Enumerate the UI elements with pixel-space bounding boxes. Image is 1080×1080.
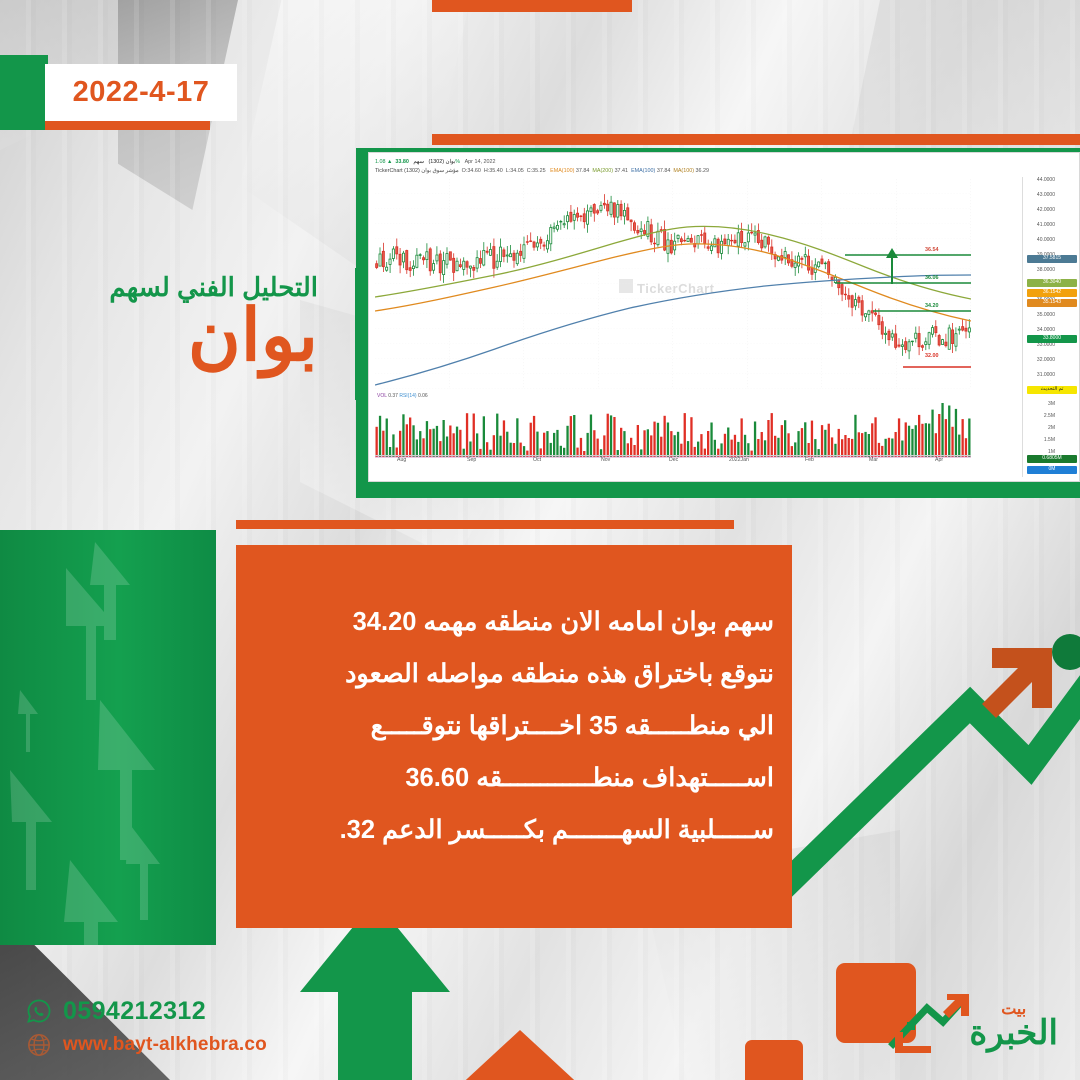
page-title: التحليل الفني لسهم بوان [0,272,340,375]
analysis-line: نتوقع باختراق هذه منطقه مواصله الصعود [236,659,792,689]
time-tick: Dec [669,457,678,463]
brand-logo[interactable]: بيت الخبرة [887,976,1062,1062]
logo-text: بيت الخبرة [969,1002,1058,1050]
analysis-text-panel: سهم بوان امامه الان منطقه مهمه 34.20 نتو… [236,545,792,928]
volume-tick: 3M [1048,401,1055,407]
volume-flag-zero: 0M [1027,466,1077,474]
chart-symbol: بوان (1302) [428,159,455,165]
chart-ind-2-value: 37.84 [657,168,671,174]
time-tick: Apr [935,457,943,463]
arrow-pattern [0,530,216,945]
time-axis: Aug Sep Oct Nov Dec 2022Jan Feb Mar Apr [375,457,971,467]
date-badge: 2022-4-17 [45,64,237,121]
chart-last-price: 33.80 [395,159,409,165]
price-tick: 34.0000 [1037,327,1055,333]
header-accent-bar [432,134,1080,145]
chart-ind-3-name: MA(100) [673,168,694,174]
volume-tick: 2M [1048,425,1055,431]
chart-ind-3-value: 36.29 [696,168,710,174]
orange-square-decoration-2 [745,1040,803,1080]
chart-header-quote-line: بوان (1302) سهم 33.80 ▲ 1.08% Apr 14, 20… [375,158,1075,167]
price-tick: 38.0000 [1037,267,1055,273]
price-tick: 32.0000 [1037,357,1055,363]
price-tick: 43.0000 [1037,192,1055,198]
house-growth-arrow-icon [887,988,973,1054]
price-flag-ema: 37.5815 [1027,255,1077,263]
chart-change-arrow: ▲ [387,159,392,165]
time-tick: Feb [805,457,814,463]
growth-zigzag-decoration [760,600,1080,960]
analysis-line: اســـــتهداف منطــــــــــــقه 36.60 [236,763,792,793]
footer-contact: 0594212312 www.bayt-alkhebra.co [26,994,356,1062]
date-green-block [0,55,48,130]
price-tick: 44.0000 [1037,177,1055,183]
whatsapp-icon [26,998,52,1024]
vol-label: VOL [377,393,387,399]
footer-phone-row[interactable]: 0594212312 [26,994,356,1028]
price-tick: 35.0000 [1037,312,1055,318]
sr-label-3654: 36.54 [925,247,939,253]
volume-tick: 1.5M [1044,437,1055,443]
time-tick: Sep [467,457,476,463]
date-underline [45,121,210,130]
globe-icon [26,1032,52,1058]
chart-ind-0-value: 37.84 [576,168,590,174]
volume-tick: 2.5M [1044,413,1055,419]
chart-ind-1-name: MA(200) [592,168,613,174]
volume-indicator-label: VOL 0.37 RSI(14) 0.06 [377,393,428,399]
time-tick: 2022Jan [729,457,749,463]
footer-website: www.bayt-alkhebra.co [63,1034,267,1056]
time-tick: Nov [601,457,610,463]
chart-close: C:35.25 [527,168,546,174]
price-tick: 41.0000 [1037,222,1055,228]
stock-chart[interactable]: بوان (1302) سهم 33.80 ▲ 1.08% Apr 14, 20… [368,152,1080,482]
price-flag-ma200: 36.3040 [1027,279,1077,287]
section-divider [236,520,734,529]
chart-ind-2-name: EMA(100) [631,168,655,174]
logo-text-main: الخبرة [969,1014,1058,1052]
chart-open: O:34.60 [462,168,481,174]
price-flag-updated: تم التحديث [1027,386,1077,394]
footer-phone: 0594212312 [63,997,206,1026]
volume-flag-current: 0.6805M [1027,455,1077,463]
vol-value: 0.37 [388,393,398,399]
time-tick: Oct [533,457,541,463]
price-axis: 44.0000 43.0000 42.0000 41.0000 40.0000 … [1021,177,1077,397]
price-flag-ma100: 36.1542 [1027,289,1077,297]
top-accent-bar [432,0,632,12]
time-tick: Mar [869,457,878,463]
chart-low: L:34.05 [506,168,524,174]
analysis-line: ســـــلبية السهـــــــم بكـــــسر الدعم … [236,815,792,845]
chart-quote-date: Apr 14, 2022 [465,159,496,165]
price-flag-ema100: 35.1543 [1027,299,1077,307]
chart-source: TickerChart [375,168,403,174]
chart-header: بوان (1302) سهم 33.80 ▲ 1.08% Apr 14, 20… [375,158,1075,176]
analysis-line: سهم بوان امامه الان منطقه مهمه 34.20 [236,607,792,637]
title-stock-name: بوان [0,299,340,375]
time-axis-line [375,455,971,456]
sr-label-3200: 32.00 [925,353,939,359]
sr-label-3420: 34.20 [925,303,939,309]
price-plot-svg [375,179,971,389]
time-tick: Aug [397,457,406,463]
chart-ohlc-symbol: مؤشر سوق بوان (1302) [404,168,458,174]
chart-high: H:35.40 [484,168,503,174]
chart-ind-0-name: EMA(100) [550,168,574,174]
price-tick: 42.0000 [1037,207,1055,213]
analysis-lines: سهم بوان امامه الان منطقه مهمه 34.20 نتو… [236,607,792,845]
rsi-label: RSI(14) [399,393,416,399]
chart-base-bar [356,480,1080,498]
chart-market: سهم [413,159,424,165]
price-tick: 33.0000 [1037,342,1055,348]
sr-label-3606: 36.06 [925,275,939,281]
footer-web-row[interactable]: www.bayt-alkhebra.co [26,1028,356,1062]
price-tick: 31.0000 [1037,372,1055,378]
price-flag-last: 33.8000 [1027,335,1077,343]
price-tick: 40.0000 [1037,237,1055,243]
analysis-line: الي منطـــــقه 35 اخــــتراقها نتوقـــــ… [236,711,792,741]
date-text: 2022-4-17 [73,76,210,109]
chart-ind-1-value: 37.41 [615,168,629,174]
chart-header-ohlc-line: TickerChart مؤشر سوق بوان (1302) O:34.60… [375,167,1075,176]
rsi-value: 0.06 [418,393,428,399]
green-side-panel [0,530,216,945]
orange-up-arrow-decoration [455,1030,585,1080]
